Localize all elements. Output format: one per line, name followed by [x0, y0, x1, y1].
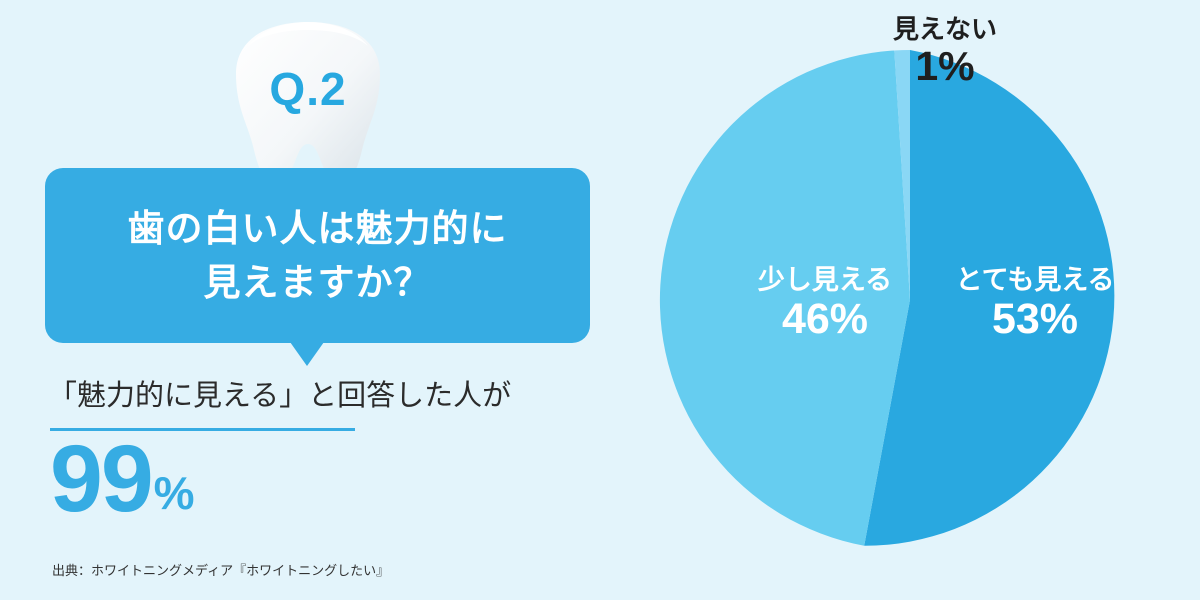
infographic-root: Q.2 歯の白い人は魅力的に 見えますか？ 「魅力的に見える」と回答した人が 9… [0, 0, 1200, 600]
question-line-2: 見えますか？ [204, 256, 432, 310]
pie-label-little-value: 46% [730, 295, 920, 343]
pie-label-none-value: 1% [845, 44, 1045, 90]
chart-panel: とても見える 53% 少し見える 46% 見えない 1% [640, 0, 1200, 600]
headline-stat-unit: % [152, 470, 195, 524]
pie-label-none-name: 見えない [845, 15, 1045, 44]
pie-label-little: 少し見える 46% [730, 265, 920, 343]
pie-label-very-value: 53% [940, 295, 1130, 343]
headline-stat-number: 99 [50, 434, 152, 524]
question-bubble: 歯の白い人は魅力的に 見えますか？ [45, 168, 590, 343]
pie-label-very-name: とても見える [940, 265, 1130, 295]
question-line-1: 歯の白い人は魅力的に [128, 202, 508, 256]
answer-subtitle: 「魅力的に見える」と回答した人が [48, 372, 511, 414]
source-note: 出典：ホワイトニングメディア『ホワイトニングしたい』 [52, 560, 389, 579]
question-panel: Q.2 歯の白い人は魅力的に 見えますか？ 「魅力的に見える」と回答した人が 9… [0, 0, 640, 600]
headline-stat: 99 % [50, 434, 195, 524]
question-number: Q.2 [228, 62, 388, 116]
bubble-tail [290, 342, 324, 366]
pie-label-very: とても見える 53% [940, 265, 1130, 343]
pie-label-little-name: 少し見える [730, 265, 920, 295]
pie-label-none: 見えない 1% [845, 15, 1045, 90]
